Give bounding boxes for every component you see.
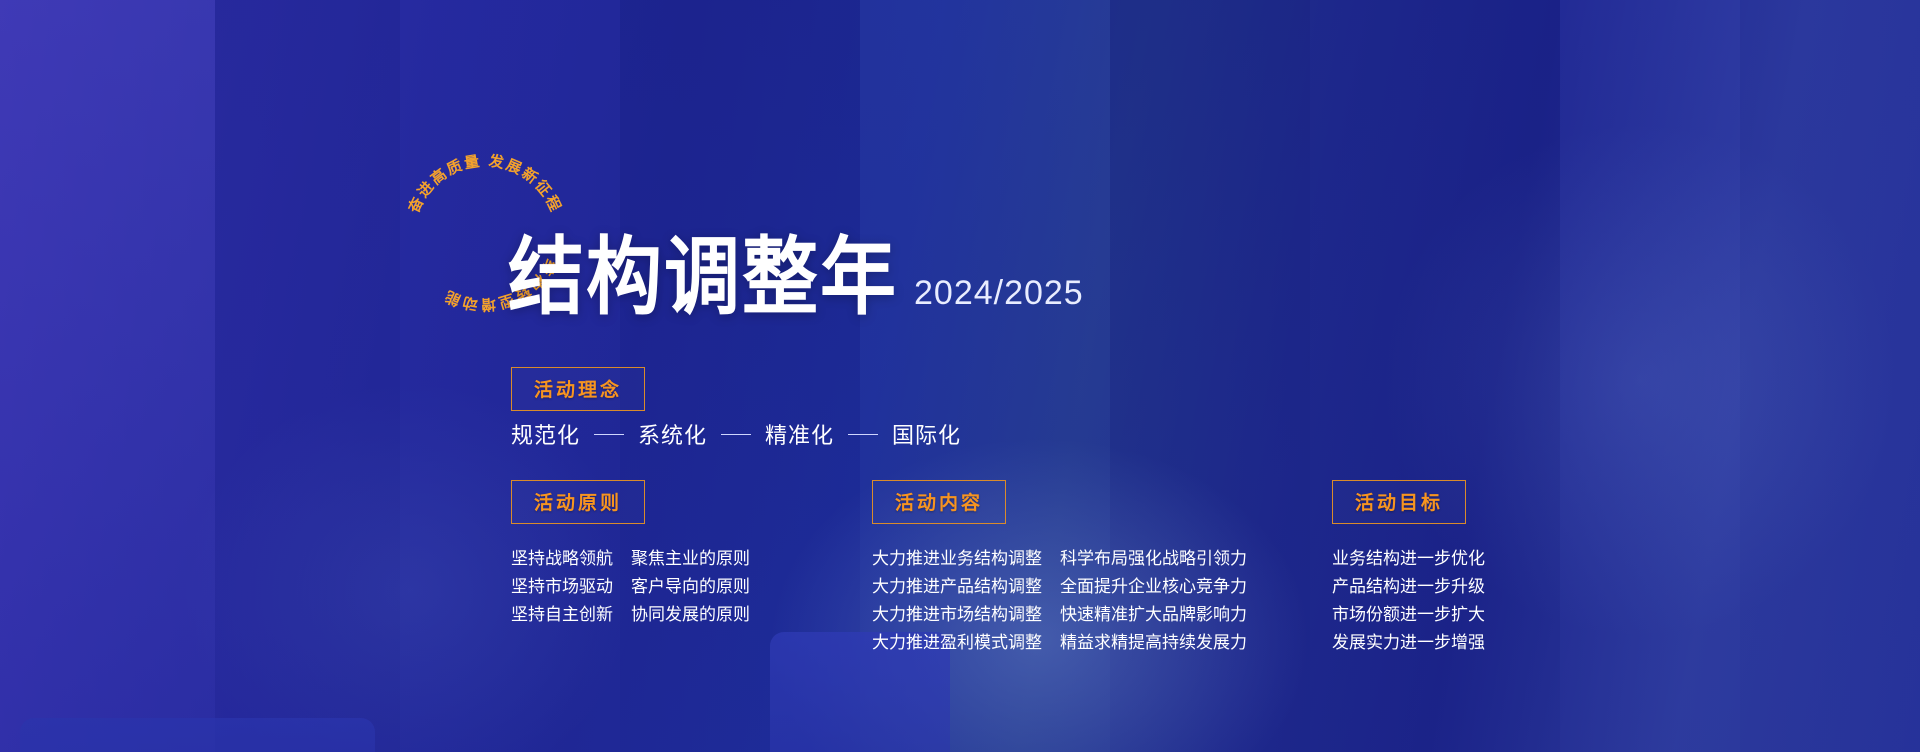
concept-item: 精准化 (765, 418, 834, 450)
row-right: 科学布局强化战略引领力 (1060, 550, 1247, 567)
concept-item: 规范化 (511, 418, 580, 450)
row-right: 客户导向的原则 (631, 578, 750, 595)
background-band (1740, 0, 1920, 752)
content-rows: 大力推进业务结构调整 科学布局强化战略引领力 大力推进产品结构调整 全面提升企业… (872, 550, 1247, 662)
row-left: 坚持市场驱动 (511, 578, 613, 595)
badge-goals-wrap: 活动目标 (1332, 480, 1485, 524)
list-item: 产品结构进一步升级 (1332, 578, 1485, 595)
concept-separator-dash (594, 434, 624, 435)
seal-top-label: 奋进高质量 发展新征程 (404, 152, 564, 217)
list-item: 坚持战略领航 聚焦主业的原则 (511, 550, 750, 567)
background-band (0, 0, 215, 752)
background-shape (20, 718, 375, 752)
row-right: 快速精准扩大品牌影响力 (1060, 606, 1247, 623)
year-range: 2024/2025 (914, 274, 1084, 313)
list-item: 大力推进盈利模式调整 精益求精提高持续发展力 (872, 634, 1247, 651)
concept-keyword-list: 规范化 系统化 精准化 国际化 (511, 418, 961, 450)
row-right: 全面提升企业核心竞争力 (1060, 578, 1247, 595)
row-left: 大力推进产品结构调整 (872, 578, 1042, 595)
promotional-banner: 奋进高质量 发展新征程 调结构转型增动能 结构调整年 2024/2025 活动理… (0, 0, 1920, 752)
column-principles: 活动原则 坚持战略领航 聚焦主业的原则 坚持市场驱动 客户导向的原则 坚持自主创… (511, 480, 750, 634)
badge-goals: 活动目标 (1332, 480, 1466, 524)
title-row: 结构调整年 2024/2025 (508, 245, 1084, 321)
row-right: 协同发展的原则 (631, 606, 750, 623)
row-left: 发展实力进一步增强 (1332, 634, 1485, 651)
list-item: 大力推进市场结构调整 快速精准扩大品牌影响力 (872, 606, 1247, 623)
badge-content-wrap: 活动内容 (872, 480, 1247, 524)
principles-rows: 坚持战略领航 聚焦主业的原则 坚持市场驱动 客户导向的原则 坚持自主创新 协同发… (511, 550, 750, 634)
row-left: 坚持自主创新 (511, 606, 613, 623)
concept-item: 国际化 (892, 418, 961, 450)
row-left: 大力推进业务结构调整 (872, 550, 1042, 567)
concept-separator-dash (848, 434, 878, 435)
concept-badge-wrap: 活动理念 (511, 367, 645, 411)
row-right: 聚焦主业的原则 (631, 550, 750, 567)
row-left: 大力推进市场结构调整 (872, 606, 1042, 623)
concept-item: 系统化 (638, 418, 707, 450)
row-left: 产品结构进一步升级 (1332, 578, 1485, 595)
list-item: 大力推进业务结构调整 科学布局强化战略引领力 (872, 550, 1247, 567)
background-band (620, 0, 860, 752)
row-left: 市场份额进一步扩大 (1332, 606, 1485, 623)
row-left: 坚持战略领航 (511, 550, 613, 567)
goals-rows: 业务结构进一步优化 产品结构进一步升级 市场份额进一步扩大 发展实力进一步增强 (1332, 550, 1485, 662)
badge-principles-wrap: 活动原则 (511, 480, 750, 524)
badge-principles: 活动原则 (511, 480, 645, 524)
concept-separator-dash (721, 434, 751, 435)
list-item: 坚持市场驱动 客户导向的原则 (511, 578, 750, 595)
background-band (215, 0, 400, 752)
row-left: 大力推进盈利模式调整 (872, 634, 1042, 651)
seal-top-text: 奋进高质量 发展新征程 (404, 152, 564, 217)
badge-concept: 活动理念 (511, 367, 645, 411)
list-item: 市场份额进一步扩大 (1332, 606, 1485, 623)
list-item: 大力推进产品结构调整 全面提升企业核心竞争力 (872, 578, 1247, 595)
row-right: 精益求精提高持续发展力 (1060, 634, 1247, 651)
list-item: 坚持自主创新 协同发展的原则 (511, 606, 750, 623)
page-title: 结构调整年 (508, 236, 898, 321)
list-item: 发展实力进一步增强 (1332, 634, 1485, 651)
badge-content: 活动内容 (872, 480, 1006, 524)
column-goals: 活动目标 业务结构进一步优化 产品结构进一步升级 市场份额进一步扩大 发展实力进… (1332, 480, 1485, 662)
list-item: 业务结构进一步优化 (1332, 550, 1485, 567)
column-content: 活动内容 大力推进业务结构调整 科学布局强化战略引领力 大力推进产品结构调整 全… (872, 480, 1247, 662)
row-left: 业务结构进一步优化 (1332, 550, 1485, 567)
background-band (1560, 0, 1740, 752)
